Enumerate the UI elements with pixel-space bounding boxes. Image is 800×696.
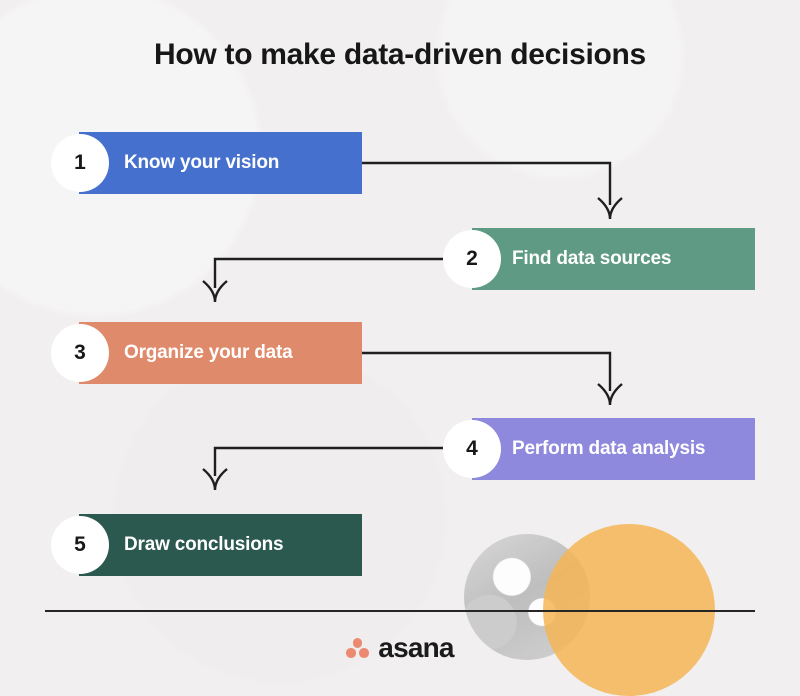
- step-label-4: Perform data analysis: [512, 418, 705, 480]
- arrow-4-to-5: [215, 448, 443, 476]
- step-bar-1: Know your vision: [79, 132, 362, 194]
- infographic-canvas: How to make data-driven decisions Know y…: [0, 0, 800, 689]
- baseline-divider: [45, 610, 755, 612]
- step-badge-1: 1: [51, 134, 109, 192]
- step-row-2[interactable]: Find data sources: [472, 228, 755, 290]
- arrowhead-2-to-3: [203, 281, 227, 302]
- step-badge-2: 2: [443, 230, 501, 288]
- step-label-5: Draw conclusions: [124, 514, 283, 576]
- logo-dot-top: [353, 638, 363, 648]
- arrow-3-to-4: [362, 353, 610, 391]
- step-row-5[interactable]: Draw conclusions: [79, 514, 362, 576]
- step-label-2: Find data sources: [512, 228, 671, 290]
- step-bar-5: Draw conclusions: [79, 514, 362, 576]
- arrowhead-4-to-5: [203, 469, 227, 490]
- logo-dot-bottom-right: [359, 648, 369, 658]
- step-row-1[interactable]: Know your vision: [79, 132, 362, 194]
- step-badge-3: 3: [51, 324, 109, 382]
- page-title: How to make data-driven decisions: [0, 38, 800, 72]
- arrowhead-1-to-2: [598, 198, 622, 219]
- arrow-2-to-3: [215, 259, 443, 288]
- asana-wordmark: asana: [378, 634, 453, 662]
- arrowhead-3-to-4: [598, 384, 622, 405]
- step-row-4[interactable]: Perform data analysis: [472, 418, 755, 480]
- asana-logo-mark-icon: [346, 638, 369, 658]
- step-bar-3: Organize your data: [79, 322, 362, 384]
- step-badge-4: 4: [443, 420, 501, 478]
- step-label-3: Organize your data: [124, 322, 293, 384]
- logo-dot-bottom-left: [346, 648, 356, 658]
- step-label-1: Know your vision: [124, 132, 279, 194]
- arrow-1-to-2: [362, 163, 610, 205]
- step-row-3[interactable]: Organize your data: [79, 322, 362, 384]
- step-badge-5: 5: [51, 516, 109, 574]
- step-bar-2: Find data sources: [472, 228, 755, 290]
- asana-logo: asana: [0, 634, 800, 662]
- step-bar-4: Perform data analysis: [472, 418, 755, 480]
